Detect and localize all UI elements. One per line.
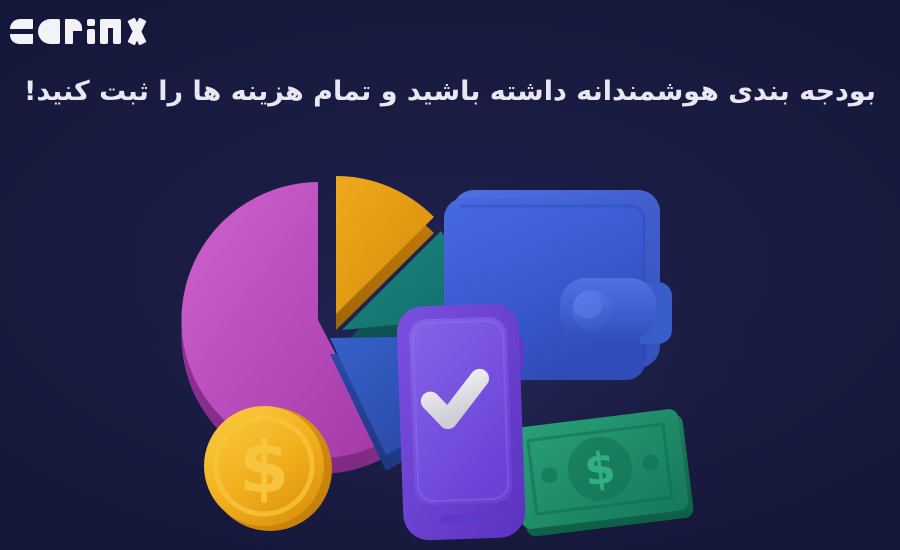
promo-banner: carinx بودجه بندی هوشمندانه داشته باشید … [0,0,900,550]
svg-text:$: $ [582,442,619,496]
coin-graphic: $ [204,406,332,531]
svg-text:$: $ [239,425,289,509]
smartphone-graphic [396,303,530,541]
illustration-3d: $ [0,0,900,550]
banknote-graphic: $ [510,408,694,538]
